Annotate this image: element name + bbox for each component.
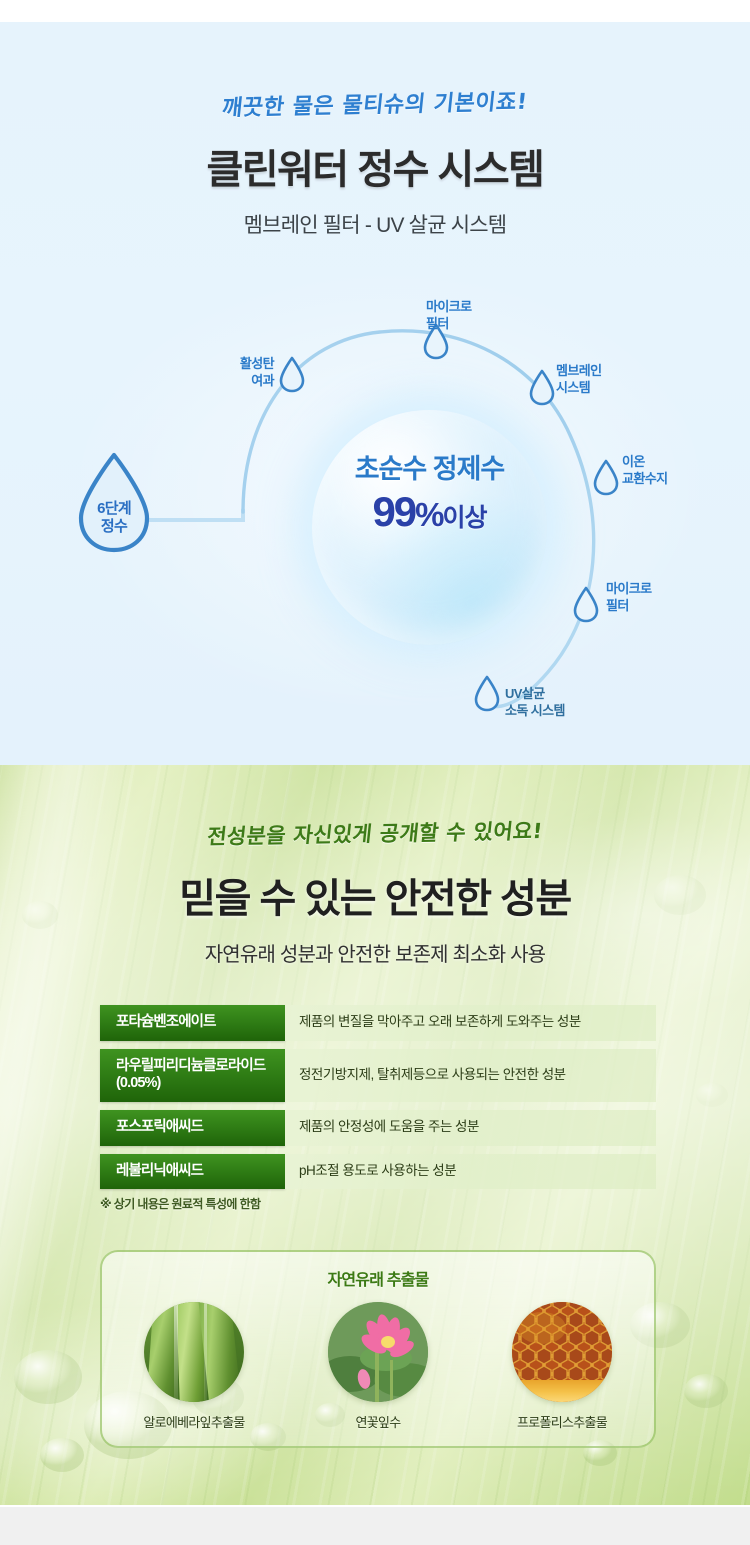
ingredient-description: 제품의 변질을 막아주고 오래 보존하게 도와주는 성분 <box>285 1005 656 1041</box>
step-4-label: 이온 교환수지 <box>622 454 722 487</box>
ingredient-description: 제품의 안정성에 도움을 주는 성분 <box>285 1110 656 1146</box>
list-item: 프로폴리스추출물 <box>487 1302 637 1431</box>
aloe-leaf-photo <box>144 1302 244 1402</box>
purity-value: 99 <box>372 488 415 535</box>
purification-flow-diagram: 초순수 정제수 99%이상 6단계 정수 활성탄 여과 마이크로 필터 멤 <box>0 260 750 760</box>
purity-suffix: 이상 <box>443 504 487 532</box>
honeycomb-photo <box>512 1302 612 1402</box>
blue-tagline: 깨끗한 물은 물티슈의 기본이죠! <box>0 79 750 127</box>
table-row: 라우릴피리디늄클로라이드 (0.05%) 정전기방지제, 탈취제등으로 사용되는… <box>100 1049 656 1102</box>
table-row: 포스포릭애씨드 제품의 안정성에 도움을 주는 성분 <box>100 1110 656 1146</box>
section-divider <box>0 1505 750 1507</box>
extract-panel-title: 자연유래 추출물 <box>102 1266 654 1290</box>
ingredient-name: 포타슘벤조에이트 <box>100 1005 285 1041</box>
top-white-strip <box>0 0 750 22</box>
product-detail-page: 깨끗한 물은 물티슈의 기본이죠! 클린워터 정수 시스템 멤브레인 필터 - … <box>0 0 750 1545</box>
ingredient-description: 정전기방지제, 탈취제등으로 사용되는 안전한 성분 <box>285 1049 656 1102</box>
step-2-label: 마이크로 필터 <box>426 299 516 332</box>
blue-section-header: 깨끗한 물은 물티슈의 기본이죠! 클린워터 정수 시스템 멤브레인 필터 - … <box>0 22 750 239</box>
bottom-gray-strip <box>0 1505 750 1545</box>
step-3-drop-icon <box>528 368 556 406</box>
step-3-label: 멤브레인 시스템 <box>556 363 656 396</box>
green-tagline: 전성분을 자신있게 공개할 수 있어요! <box>0 811 750 854</box>
purity-label: 초순수 정제수 <box>292 456 567 483</box>
ingredient-table: 포타슘벤조에이트 제품의 변질을 막아주고 오래 보존하게 도와주는 성분 라우… <box>100 1005 656 1197</box>
clean-water-section: 깨끗한 물은 물티슈의 기본이죠! 클린워터 정수 시스템 멤브레인 필터 - … <box>0 22 750 765</box>
ingredient-description: pH조절 용도로 사용하는 성분 <box>285 1154 656 1190</box>
purity-value-row: 99%이상 <box>292 491 567 533</box>
green-section-title: 믿을 수 있는 안전한 성분 <box>0 866 750 924</box>
list-item: 연꽃잎수 <box>303 1302 453 1431</box>
step-1-drop-icon <box>278 355 306 393</box>
ingredient-note: ※ 상기 내용은 원료적 특성에 한함 <box>100 1195 260 1212</box>
step-1-label: 활성탄 여과 <box>212 356 274 389</box>
start-node-label: 6단계 정수 <box>75 500 153 536</box>
step-5-drop-icon <box>572 585 600 623</box>
extract-item-list: 알로에베라잎추출물 <box>102 1302 654 1431</box>
green-section-subtitle: 자연유래 성분과 안전한 보존제 최소화 사용 <box>0 938 750 967</box>
purity-bubble-text: 초순수 정제수 99%이상 <box>292 456 567 533</box>
ingredient-name: 포스포릭애씨드 <box>100 1110 285 1146</box>
natural-extract-panel: 자연유래 추출물 알로에베라잎추출물 <box>100 1250 656 1448</box>
table-row: 포타슘벤조에이트 제품의 변질을 막아주고 오래 보존하게 도와주는 성분 <box>100 1005 656 1041</box>
extract-caption: 프로폴리스추출물 <box>487 1412 637 1431</box>
lotus-flower-photo <box>328 1302 428 1402</box>
list-item: 알로에베라잎추출물 <box>119 1302 269 1431</box>
step-5-label: 마이크로 필터 <box>606 581 706 614</box>
ingredient-name: 라우릴피리디늄클로라이드 (0.05%) <box>100 1049 285 1102</box>
step-4-drop-icon <box>592 458 620 496</box>
ingredient-name: 레불리닉애씨드 <box>100 1154 285 1190</box>
purity-unit: % <box>415 496 442 533</box>
step-6-drop-icon <box>473 674 501 712</box>
step-6-label: UV살균 소독 시스템 <box>505 686 635 719</box>
green-section-header: 전성분을 자신있게 공개할 수 있어요! 믿을 수 있는 안전한 성분 자연유래… <box>0 765 750 967</box>
honey-drip <box>512 1380 612 1402</box>
extract-caption: 연꽃잎수 <box>303 1412 453 1431</box>
extract-caption: 알로에베라잎추출물 <box>119 1412 269 1431</box>
safe-ingredients-section: 전성분을 자신있게 공개할 수 있어요! 믿을 수 있는 안전한 성분 자연유래… <box>0 765 750 1505</box>
blue-section-title: 클린워터 정수 시스템 <box>0 137 750 195</box>
table-row: 레불리닉애씨드 pH조절 용도로 사용하는 성분 <box>100 1154 656 1190</box>
blue-section-subtitle: 멤브레인 필터 - UV 살균 시스템 <box>0 209 750 239</box>
